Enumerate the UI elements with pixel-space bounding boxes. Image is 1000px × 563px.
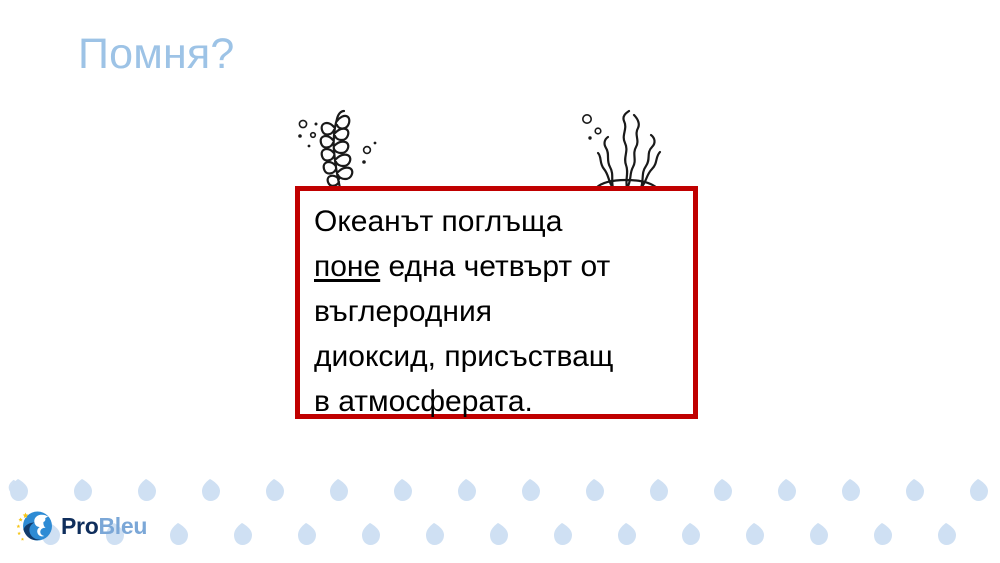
- fact-line-4: диоксид, присъстващ: [314, 340, 614, 373]
- fact-line-1: Океанът поглъща: [314, 205, 562, 238]
- probleu-logo-text: ProBleu: [61, 515, 147, 538]
- kelp-frond-icon: [285, 105, 385, 190]
- logo-text-bleu: Bleu: [98, 513, 147, 539]
- probleu-globe-icon: [16, 507, 54, 545]
- probleu-logo: ProBleu: [16, 507, 147, 545]
- fact-line-2-rest: една четвърт от: [380, 250, 610, 283]
- fact-line-3: въглеродния: [314, 295, 492, 328]
- fact-line-5: в атмосферата.: [314, 385, 533, 418]
- footer: ProBleu: [0, 473, 1000, 563]
- water-droplet-pattern: [0, 473, 1000, 563]
- logo-text-pro: Pro: [61, 513, 98, 539]
- seaweed-strands-icon: [572, 105, 677, 190]
- fact-text-box: Океанът поглъща поне една четвърт от въг…: [295, 186, 698, 419]
- fact-emphasis-word: поне: [314, 250, 380, 283]
- page-title: Помня?: [78, 27, 235, 81]
- fact-text-content: Океанът поглъща поне една четвърт от въг…: [314, 199, 683, 424]
- slide-canvas: Помня?: [0, 0, 1000, 563]
